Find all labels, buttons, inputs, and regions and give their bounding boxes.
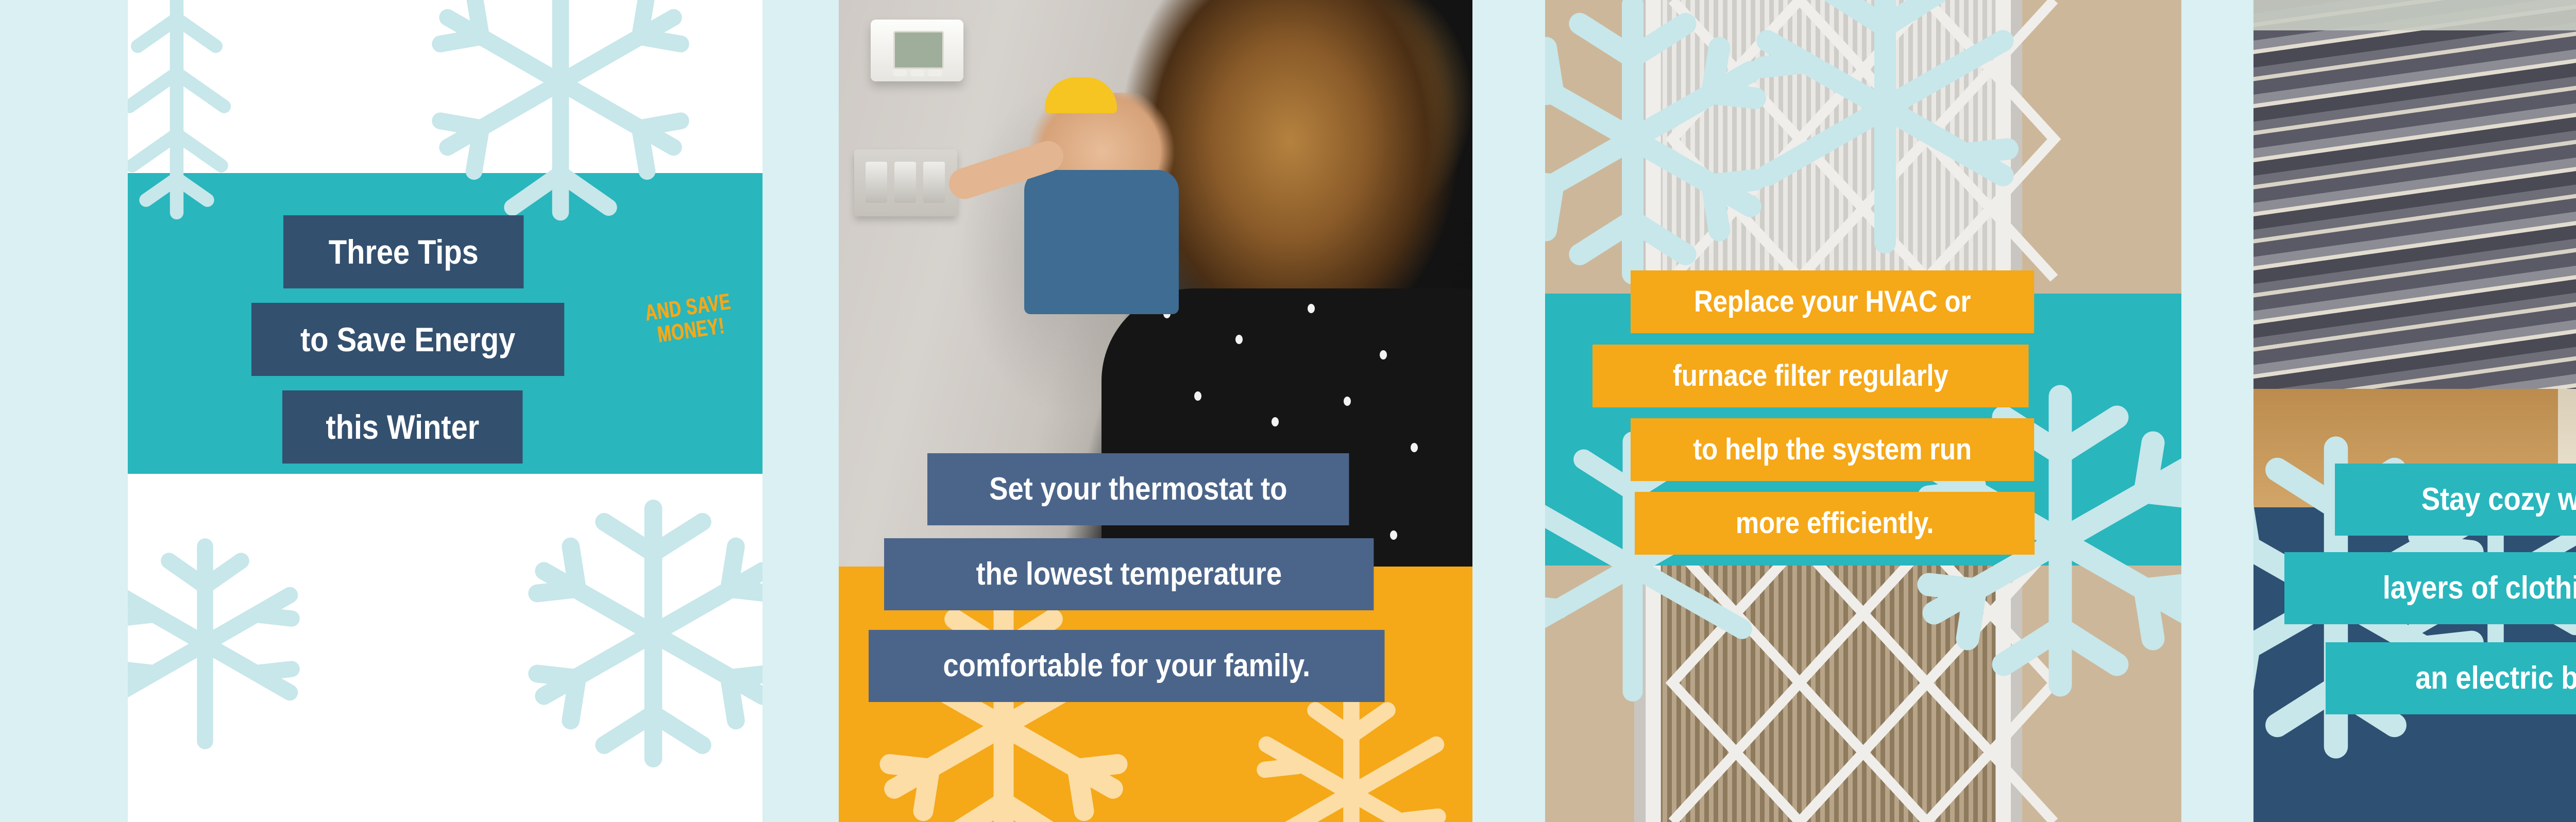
photo-child-outfit — [1024, 170, 1179, 314]
tip1-line-2-text: the lowest temperature — [976, 558, 1281, 590]
thermostat-button — [893, 70, 907, 76]
title-line-1-box: Three Tips — [283, 215, 523, 288]
poster-board: Three Tips to Save Energy this Winter AN… — [0, 0, 2576, 822]
panel-tip-thermostat: Set your thermostat to the lowest temper… — [839, 0, 1472, 822]
panel-title-card: Three Tips to Save Energy this Winter AN… — [128, 0, 762, 822]
thermostat-screen — [893, 31, 944, 69]
tip3-line-1-box: Stay cozy with extra — [2335, 464, 2576, 536]
tip1-line-3-box: comfortable for your family. — [869, 630, 1384, 702]
light-switch-plate — [854, 149, 957, 216]
photo-hair-bow — [1045, 77, 1117, 113]
tip2-line-2-text: furnace filter regularly — [1673, 361, 1948, 391]
title-line-3-text: this Winter — [326, 410, 479, 444]
tip2-line-1-text: Replace your HVAC or — [1694, 287, 1971, 317]
tip2-line-4-text: more efficiently. — [1736, 508, 1934, 538]
tip2-line-3-text: to help the system run — [1693, 435, 1972, 465]
panel-tip-blanket: Stay cozy with extra layers of clothing … — [2253, 0, 2576, 822]
tip2-line-2-box: furnace filter regularly — [1592, 345, 2029, 407]
thermostat-button — [928, 70, 942, 76]
blanket-photo — [2253, 0, 2576, 507]
tip3-line-3-box: an electric blanket. — [2326, 642, 2576, 714]
panel-tip-filter: Replace your HVAC or furnace filter regu… — [1545, 0, 2181, 822]
tip3-line-1-text: Stay cozy with extra — [2421, 484, 2576, 516]
tip3-line-3-text: an electric blanket. — [2415, 662, 2576, 694]
tip1-line-3-text: comfortable for your family. — [943, 650, 1310, 682]
tip2-line-4-box: more efficiently. — [1635, 492, 2035, 555]
thermostat-button — [911, 70, 924, 76]
tip3-line-2-text: layers of clothing and — [2383, 572, 2576, 604]
title-line-2-text: to Save Energy — [300, 322, 515, 356]
title-line-3-box: this Winter — [282, 390, 522, 464]
title-line-2-box: to Save Energy — [251, 303, 564, 376]
tip1-line-2-box: the lowest temperature — [884, 538, 1374, 610]
tip3-line-2-box: layers of clothing and — [2284, 552, 2576, 624]
title-line-1-text: Three Tips — [329, 235, 479, 269]
tip1-line-1-text: Set your thermostat to — [989, 473, 1287, 505]
tip2-line-1-box: Replace your HVAC or — [1631, 270, 2034, 333]
tip1-line-1-box: Set your thermostat to — [927, 453, 1349, 525]
tip2-line-3-box: to help the system run — [1631, 418, 2034, 481]
thermostat-device — [871, 20, 963, 81]
